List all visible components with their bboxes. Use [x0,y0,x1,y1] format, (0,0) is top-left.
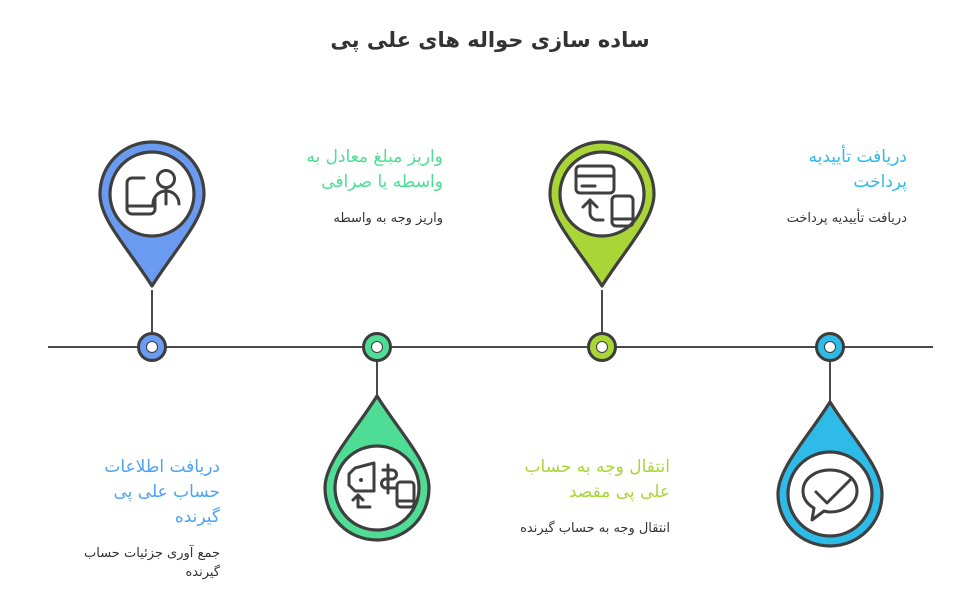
headline-step-2: واریز مبلغ معادل به واسطه یا صرافی [243,145,443,195]
page-title: ساده سازی حواله های علی پی [0,28,980,52]
pin-step-4[interactable] [770,398,890,550]
node-hole [146,341,158,353]
stem-step-3 [601,290,603,338]
timeline-axis [48,346,933,348]
sub-step-4: دریافت تأییدیه پرداخت [705,209,907,228]
node-step-4[interactable] [815,332,845,362]
sub-step-1: جمع آوری جزئیات حساب گیرنده [18,544,220,582]
node-hole [371,341,383,353]
headline-step-4: دریافت تأییدیه پرداخت [705,145,907,195]
text-block-step-2: واریز مبلغ معادل به واسطه یا صرافی واریز… [243,145,443,228]
node-step-2[interactable] [362,332,392,362]
sub-step-2: واریز وجه به واسطه [243,209,443,228]
pin-step-3[interactable] [542,138,662,290]
pin-step-2[interactable] [317,392,437,544]
headline-step-3: انتقال وجه به حساب علی پی مقصد [468,455,670,505]
node-step-3[interactable] [587,332,617,362]
node-hole [824,341,836,353]
pin-step-1[interactable] [92,138,212,290]
node-hole [596,341,608,353]
stem-step-4 [829,356,831,404]
text-block-step-4: دریافت تأییدیه پرداخت دریافت تأییدیه پرد… [705,145,907,228]
headline-step-1: دریافت اطلاعات حساب علی پی گیرنده [18,455,220,530]
text-block-step-1: دریافت اطلاعات حساب علی پی گیرنده جمع آو… [18,455,220,582]
infographic-canvas: ساده سازی حواله های علی پی دریافت اطلاعا… [0,0,980,608]
sub-step-3: انتقال وجه به حساب گیرنده [468,519,670,538]
node-step-1[interactable] [137,332,167,362]
stem-step-1 [151,290,153,338]
text-block-step-3: انتقال وجه به حساب علی پی مقصد انتقال وج… [468,455,670,538]
